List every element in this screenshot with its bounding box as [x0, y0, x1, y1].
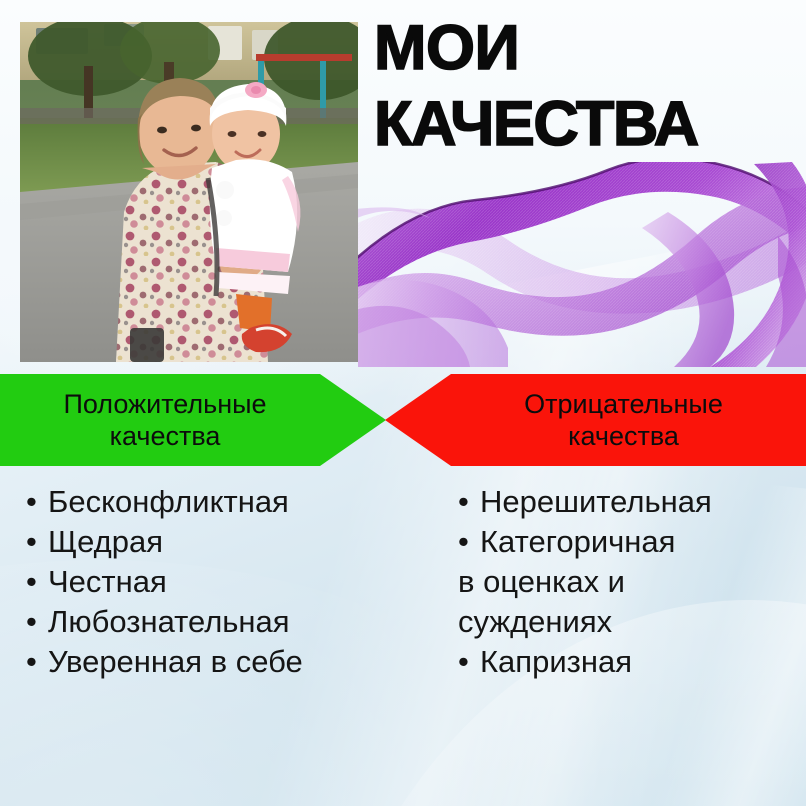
- bullet-icon: •: [26, 482, 48, 522]
- list-item-label: Щедрая: [48, 522, 163, 562]
- page-title: МОИ КАЧЕСТВА: [374, 10, 798, 162]
- list-item: •Категоричная: [458, 522, 806, 562]
- purple-wave-ribbon-graphic: [358, 162, 806, 367]
- slide-canvas: МОИ КАЧЕСТВА: [0, 0, 806, 806]
- positive-qualities-list: •Бесконфликтная•Щедрая•Честная•Любознате…: [26, 482, 426, 682]
- negative-banner-line-1: Отрицательные: [524, 388, 723, 420]
- banner-row: Положительные качества Отрицательные кач…: [0, 374, 806, 466]
- list-item: •Бесконфликтная: [26, 482, 426, 522]
- bullet-icon: •: [458, 482, 480, 522]
- bullet-icon: •: [458, 522, 480, 562]
- bullet-icon: •: [26, 602, 48, 642]
- list-item-label: Категоричная: [480, 522, 675, 562]
- list-item-label: Капризная: [480, 642, 632, 682]
- list-item-label: Бесконфликтная: [48, 482, 289, 522]
- list-item-label: Нерешительная: [480, 482, 712, 522]
- list-item-continuation: суждениях: [458, 602, 806, 642]
- negative-banner-line-2: качества: [524, 420, 723, 452]
- qualities-columns: •Бесконфликтная•Щедрая•Честная•Любознате…: [0, 482, 806, 742]
- positive-qualities-banner: Положительные качества: [0, 374, 386, 466]
- list-item-continuation: в оценках и: [458, 562, 806, 602]
- bullet-icon: •: [26, 522, 48, 562]
- negative-qualities-column: •Нерешительная•Категоричнаяв оценках ису…: [458, 482, 806, 682]
- woman-holding-baby-photo: [20, 22, 358, 362]
- bullet-icon: •: [26, 562, 48, 602]
- list-item: •Честная: [26, 562, 426, 602]
- bullet-icon: •: [458, 642, 480, 682]
- page-title-line-1: МОИ: [374, 13, 519, 83]
- negative-qualities-list: •Нерешительная•Категоричнаяв оценках ису…: [458, 482, 806, 682]
- positive-banner-line-1: Положительные: [63, 388, 266, 420]
- positive-banner-line-2: качества: [63, 420, 266, 452]
- page-title-line-2: КАЧЕСТВА: [374, 86, 798, 162]
- list-item: •Любознательная: [26, 602, 426, 642]
- positive-qualities-column: •Бесконфликтная•Щедрая•Честная•Любознате…: [26, 482, 426, 682]
- list-item: •Уверенная в себе: [26, 642, 426, 682]
- list-item: •Нерешительная: [458, 482, 806, 522]
- bullet-icon: •: [26, 642, 48, 682]
- negative-qualities-banner: Отрицательные качества: [385, 374, 806, 466]
- list-item-label: Любознательная: [48, 602, 290, 642]
- list-item-label: Уверенная в себе: [48, 642, 303, 682]
- list-item: •Капризная: [458, 642, 806, 682]
- list-item-label: Честная: [48, 562, 167, 602]
- list-item: •Щедрая: [26, 522, 426, 562]
